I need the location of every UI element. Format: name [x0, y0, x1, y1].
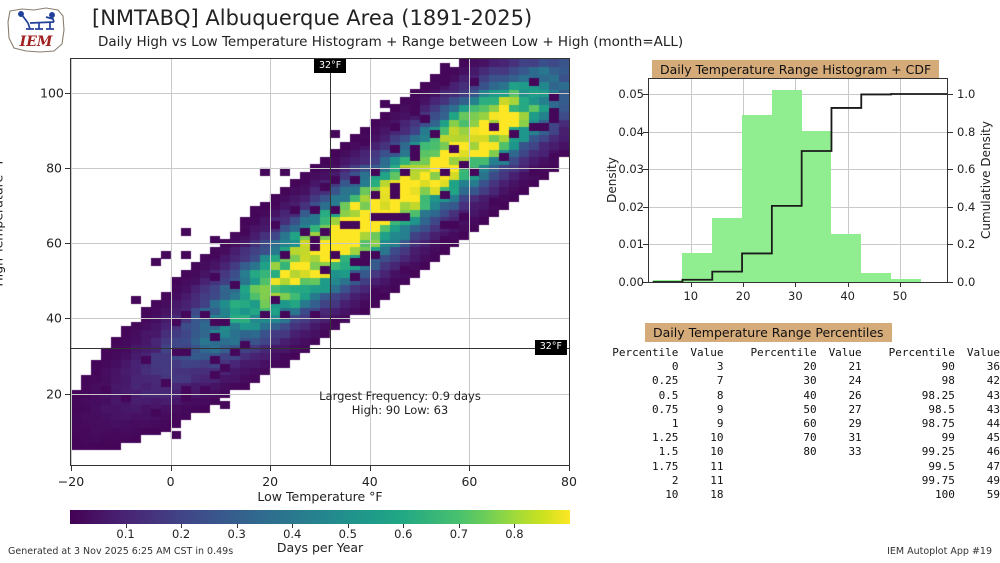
- page-title: [NMTABQ] Albuquerque Area (1891-2025): [92, 6, 532, 30]
- x-tick-label: 40: [362, 474, 378, 489]
- ref-label-vertical-32f: 32°F: [314, 59, 346, 73]
- x-tick-mark: [569, 466, 570, 471]
- table-spacer: [723, 389, 744, 403]
- table-cell: 2: [606, 474, 678, 488]
- y-tick-label: 60: [40, 236, 62, 251]
- hist-y-tick-mark: [643, 282, 648, 283]
- table-cell: 10: [606, 488, 678, 502]
- table-spacer: [862, 488, 883, 502]
- percentiles-grid: PercentileValuePercentileValuePercentile…: [606, 346, 1000, 502]
- table-cell: 99.5: [882, 460, 954, 474]
- table-cell: 42: [955, 374, 1000, 388]
- table-spacer: [723, 431, 744, 445]
- table-cell: [744, 474, 816, 488]
- table-row: 0.759502798.543: [606, 403, 1000, 417]
- table-header-cell: Value: [955, 346, 1000, 360]
- percentiles-title: Daily Temperature Range Percentiles: [645, 323, 892, 342]
- table-cell: 47: [955, 460, 1000, 474]
- hist-x-tick-label: 50: [893, 289, 908, 303]
- hist-y2-tick-label: 0.2: [957, 237, 975, 251]
- table-cell: 0: [606, 360, 678, 374]
- y-tick-mark: [65, 93, 70, 94]
- table-spacer: [723, 460, 744, 474]
- table-row: 0.25730249842: [606, 374, 1000, 388]
- hist-x-tick-label: 40: [840, 289, 855, 303]
- x-tick-label: 60: [461, 474, 477, 489]
- table-spacer: [862, 445, 883, 459]
- largest-frequency-annotation: Largest Frequency: 0.9 days High: 90 Low…: [319, 389, 481, 418]
- table-cell: 59: [955, 488, 1000, 502]
- colorbar-tick-label: 0.7: [450, 527, 468, 541]
- table-cell: 70: [744, 431, 816, 445]
- hist-x-tick-mark: [900, 282, 901, 287]
- table-cell: 100: [882, 488, 954, 502]
- colorbar-label: Days per Year: [277, 540, 363, 555]
- table-cell: [744, 488, 816, 502]
- table-cell: 21: [817, 360, 862, 374]
- hist-y2-tick-label: 0.4: [957, 200, 975, 214]
- hist-y-tick-label: 0.04: [612, 125, 644, 139]
- ref-line-horizontal-32f: [71, 348, 569, 349]
- table-cell: 1: [606, 417, 678, 431]
- table-cell: 99.75: [882, 474, 954, 488]
- table-header-cell: Value: [817, 346, 862, 360]
- table-cell: 26: [817, 389, 862, 403]
- table-spacer: [862, 403, 883, 417]
- table-cell: 29: [817, 417, 862, 431]
- table-cell: 10: [678, 431, 723, 445]
- table-spacer: [723, 374, 744, 388]
- table-cell: 18: [678, 488, 723, 502]
- x-tick-mark: [469, 466, 470, 471]
- table-cell: 80: [744, 445, 816, 459]
- table-cell: 11: [678, 474, 723, 488]
- gridline-v: [71, 59, 72, 465]
- table-cell: 3: [678, 360, 723, 374]
- percentiles-table: PercentileValuePercentileValuePercentile…: [606, 346, 1000, 502]
- table-cell: 11: [678, 460, 723, 474]
- hist-y2-tick-label: 0.6: [957, 162, 975, 176]
- table-cell: 1.25: [606, 431, 678, 445]
- table-cell: 0.5: [606, 389, 678, 403]
- table-cell: 1.5: [606, 445, 678, 459]
- table-row: 21199.7549: [606, 474, 1000, 488]
- hist-x-tick-label: 30: [788, 289, 803, 303]
- table-spacer: [862, 360, 883, 374]
- gridline-v: [171, 59, 172, 465]
- table-cell: 7: [678, 374, 723, 388]
- hist-y2-tick-mark: [948, 169, 953, 170]
- colorbar-tick-label: 0.2: [172, 527, 190, 541]
- hist-y2-tick-mark: [948, 132, 953, 133]
- table-cell: 0.25: [606, 374, 678, 388]
- hist-x-tick-mark: [795, 282, 796, 287]
- footer-app-id: IEM Autoplot App #19: [887, 546, 992, 557]
- table-cell: [817, 488, 862, 502]
- table-cell: 43: [955, 389, 1000, 403]
- table-cell: 99.25: [882, 445, 954, 459]
- table-header-cell: Percentile: [606, 346, 678, 360]
- table-cell: 98.25: [882, 389, 954, 403]
- cdf-path: [653, 94, 947, 282]
- x-axis-label: Low Temperature °F: [257, 489, 382, 504]
- hist-gridline-h: [649, 282, 947, 283]
- hist-y-tick-mark: [643, 207, 648, 208]
- table-row: 0.58402698.2543: [606, 389, 1000, 403]
- table-header-cell: Percentile: [744, 346, 816, 360]
- table-spacer: [862, 374, 883, 388]
- table-header-cell: Percentile: [882, 346, 954, 360]
- hist-y2-tick-mark: [948, 94, 953, 95]
- table-spacer: [862, 474, 883, 488]
- hist-y2-tick-label: 1.0: [957, 87, 975, 101]
- table-cell: 99: [882, 431, 954, 445]
- table-cell: 8: [678, 389, 723, 403]
- table-cell: 50: [744, 403, 816, 417]
- colorbar-tick-label: 0.8: [505, 527, 523, 541]
- hist-y-tick-mark: [643, 132, 648, 133]
- table-row: 19602998.7544: [606, 417, 1000, 431]
- colorbar-tick-label: 0.5: [339, 527, 357, 541]
- table-cell: 30: [744, 374, 816, 388]
- hist-y-tick-label: 0.01: [612, 237, 644, 251]
- table-cell: 10: [678, 445, 723, 459]
- table-spacer: [862, 460, 883, 474]
- table-body: 03202190360.257302498420.58402698.25430.…: [606, 360, 1000, 502]
- table-cell: 9: [678, 403, 723, 417]
- gridline-v: [270, 59, 271, 465]
- table-cell: 24: [817, 374, 862, 388]
- table-row: 101810059: [606, 488, 1000, 502]
- annotation-line-2: High: 90 Low: 63: [319, 403, 481, 417]
- gridline-h: [71, 243, 569, 244]
- table-cell: 27: [817, 403, 862, 417]
- y-tick-mark: [65, 243, 70, 244]
- y-tick-label: 80: [40, 161, 62, 176]
- gridline-h: [71, 168, 569, 169]
- hist-y-tick-label: 0.00: [612, 275, 644, 289]
- range-histogram-plot: [648, 78, 948, 283]
- svg-text:IEM: IEM: [19, 34, 53, 50]
- x-tick-mark: [370, 466, 371, 471]
- hist-y2-axis-label: Cumulative Density: [979, 121, 993, 239]
- table-cell: 36: [955, 360, 1000, 374]
- gridline-h: [71, 93, 569, 94]
- table-spacer: [723, 346, 744, 360]
- table-cell: 40: [744, 389, 816, 403]
- y-tick-label: 100: [40, 85, 62, 100]
- table-spacer: [723, 488, 744, 502]
- table-spacer: [723, 445, 744, 459]
- hist-x-tick-mark: [848, 282, 849, 287]
- y-tick-mark: [65, 394, 70, 395]
- table-spacer: [862, 389, 883, 403]
- table-cell: 0.75: [606, 403, 678, 417]
- colorbar: [70, 510, 570, 524]
- cdf-line: [649, 79, 947, 282]
- y-tick-mark: [65, 318, 70, 319]
- hist-y-tick-mark: [643, 169, 648, 170]
- table-spacer: [723, 474, 744, 488]
- y-tick-label: 20: [40, 386, 62, 401]
- table-cell: 20: [744, 360, 816, 374]
- table-cell: [744, 460, 816, 474]
- table-spacer: [723, 417, 744, 431]
- hist-y2-tick-label: 0.8: [957, 125, 975, 139]
- hist-y2-tick-label: 0.0: [957, 275, 975, 289]
- y-tick-label: 40: [40, 311, 62, 326]
- y-tick-mark: [65, 168, 70, 169]
- x-tick-label: −20: [58, 474, 84, 489]
- table-row: 1.251070319945: [606, 431, 1000, 445]
- colorbar-tick-label: 0.4: [283, 527, 301, 541]
- table-cell: 33: [817, 445, 862, 459]
- hist-y-tick-mark: [643, 94, 648, 95]
- table-spacer: [723, 403, 744, 417]
- table-cell: 60: [744, 417, 816, 431]
- hist-x-tick-label: 10: [683, 289, 698, 303]
- table-cell: 45: [955, 431, 1000, 445]
- table-cell: 98.75: [882, 417, 954, 431]
- colorbar-tick-label: 0.3: [228, 527, 246, 541]
- hist-y2-tick-mark: [948, 207, 953, 208]
- x-tick-mark: [71, 466, 72, 471]
- iem-logo: IEM: [6, 4, 68, 56]
- table-row: 0320219036: [606, 360, 1000, 374]
- gridline-v: [569, 59, 570, 465]
- hist-y2-tick-mark: [948, 282, 953, 283]
- x-tick-label: 0: [167, 474, 175, 489]
- table-cell: 31: [817, 431, 862, 445]
- hist-y2-tick-mark: [948, 244, 953, 245]
- table-header-cell: Value: [678, 346, 723, 360]
- colorbar-tick-label: 0.1: [116, 527, 134, 541]
- annotation-line-1: Largest Frequency: 0.9 days: [319, 389, 481, 403]
- table-cell: [817, 460, 862, 474]
- x-tick-mark: [171, 466, 172, 471]
- table-row: 1.510803399.2546: [606, 445, 1000, 459]
- x-tick-label: 80: [561, 474, 577, 489]
- hist-panel-title: Daily Temperature Range Histogram + CDF: [652, 60, 939, 79]
- gridline-h: [71, 318, 569, 319]
- table-cell: 98.5: [882, 403, 954, 417]
- table-spacer: [862, 346, 883, 360]
- hist-x-tick-mark: [691, 282, 692, 287]
- table-row: 1.751199.547: [606, 460, 1000, 474]
- table-cell: 98: [882, 374, 954, 388]
- table-cell: 46: [955, 445, 1000, 459]
- hist-x-tick-label: 20: [736, 289, 751, 303]
- table-spacer: [723, 360, 744, 374]
- page-subtitle: Daily High vs Low Temperature Histogram …: [98, 34, 683, 50]
- hist-y-axis-label: Density: [605, 157, 619, 203]
- hist-x-tick-mark: [743, 282, 744, 287]
- colorbar-tick-label: 0.6: [394, 527, 412, 541]
- y-axis-label: High Temperature °F: [0, 157, 6, 286]
- footer-generated-text: Generated at 3 Nov 2025 6:25 AM CST in 0…: [8, 546, 233, 557]
- table-spacer: [862, 417, 883, 431]
- table-cell: 9: [678, 417, 723, 431]
- hist-y-tick-label: 0.05: [612, 87, 644, 101]
- ref-label-horizontal-32f: 32°F: [535, 340, 567, 354]
- table-header-row: PercentileValuePercentileValuePercentile…: [606, 346, 1000, 360]
- table-spacer: [862, 431, 883, 445]
- hist-y-tick-mark: [643, 244, 648, 245]
- table-cell: 49: [955, 474, 1000, 488]
- x-tick-mark: [270, 466, 271, 471]
- table-cell: 90: [882, 360, 954, 374]
- table-cell: 43: [955, 403, 1000, 417]
- x-tick-label: 20: [262, 474, 278, 489]
- table-cell: 1.75: [606, 460, 678, 474]
- table-cell: 44: [955, 417, 1000, 431]
- table-cell: [817, 474, 862, 488]
